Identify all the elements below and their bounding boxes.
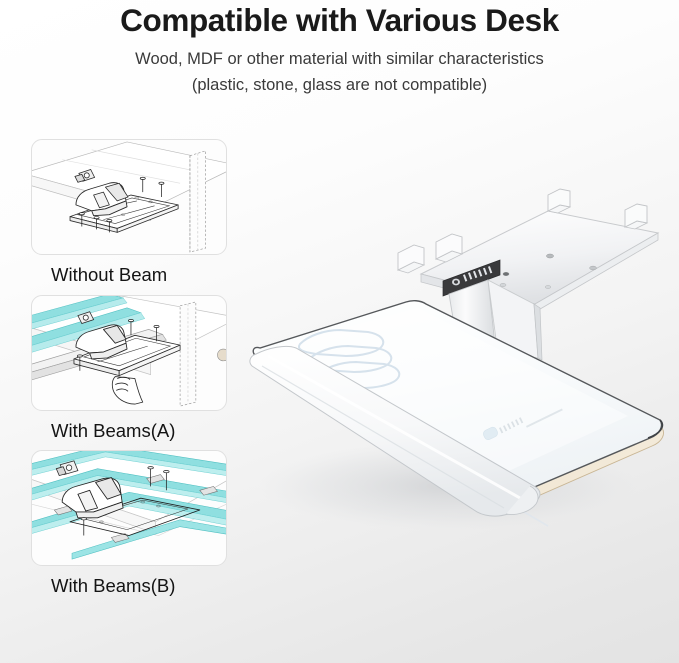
header: Compatible with Various Desk Wood, MDF o…	[0, 0, 679, 98]
subtitle-line-2: (plastic, stone, glass are not compatibl…	[0, 73, 679, 99]
page-title: Compatible with Various Desk	[0, 2, 679, 38]
panel-caption-with-beams-a: With Beams(A)	[31, 411, 227, 441]
panel-with-beams-a: With Beams(A)	[31, 295, 227, 441]
keyboard-tray-product-render	[248, 176, 679, 544]
mounting-option-panels: Without Beam	[31, 139, 227, 606]
product-image	[248, 176, 679, 544]
panel-with-beams-b: With Beams(B)	[31, 450, 227, 596]
panel-caption-without-beam: Without Beam	[31, 255, 227, 285]
panel-without-beam: Without Beam	[31, 139, 227, 285]
panel-card-illustration	[31, 450, 227, 566]
panel-caption-with-beams-b: With Beams(B)	[31, 566, 227, 596]
without-beam-illustration	[32, 140, 226, 254]
with-beams-b-illustration	[32, 451, 226, 565]
panel-card-illustration	[31, 295, 227, 411]
mounting-bracket-plate	[398, 189, 658, 312]
panel-card-illustration	[31, 139, 227, 255]
with-beams-a-illustration	[32, 296, 226, 410]
subtitle-line-1: Wood, MDF or other material with similar…	[0, 47, 679, 73]
